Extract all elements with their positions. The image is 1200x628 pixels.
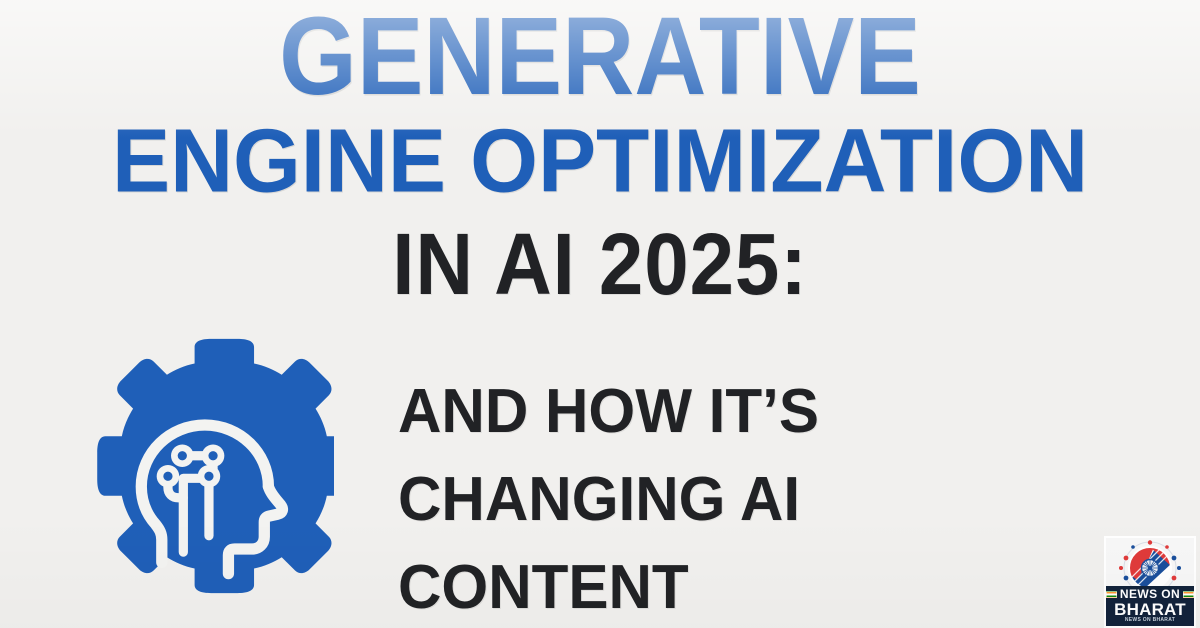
headline-line-generative: GENERATIVE	[24, 2, 1176, 112]
channel-logo-inner: NEWS ON BHARAT NEWS ON BHARAT	[1106, 538, 1194, 626]
channel-logo-bharat-text: BHARAT	[1106, 601, 1194, 618]
channel-logo-wordmark: NEWS ON BHARAT NEWS ON BHARAT	[1106, 586, 1194, 626]
headline-line-in-ai-2025: IN AI 2025:	[30, 220, 1170, 307]
poster-canvas: GENERATIVE ENGINE OPTIMIZATION IN AI 202…	[0, 0, 1200, 628]
tricolor-bar-right-icon	[1183, 591, 1194, 598]
gear-ai-head-icon	[88, 334, 334, 598]
headline-line-engine-optimization: ENGINE OPTIMIZATION	[6, 116, 1194, 206]
channel-logo-news-row: NEWS ON	[1106, 588, 1194, 600]
channel-logo[interactable]: NEWS ON BHARAT NEWS ON BHARAT	[1104, 536, 1196, 628]
tricolor-bar-left-icon	[1106, 591, 1117, 598]
subhead-line-2: CHANGING AI	[398, 456, 980, 544]
subhead-line-3: CONTENT	[398, 544, 980, 628]
subhead-line-1: AND HOW IT’S	[398, 368, 980, 456]
channel-logo-news-text: NEWS ON	[1120, 588, 1180, 600]
subhead-block: AND HOW IT’S CHANGING AI CONTENT	[398, 368, 998, 628]
